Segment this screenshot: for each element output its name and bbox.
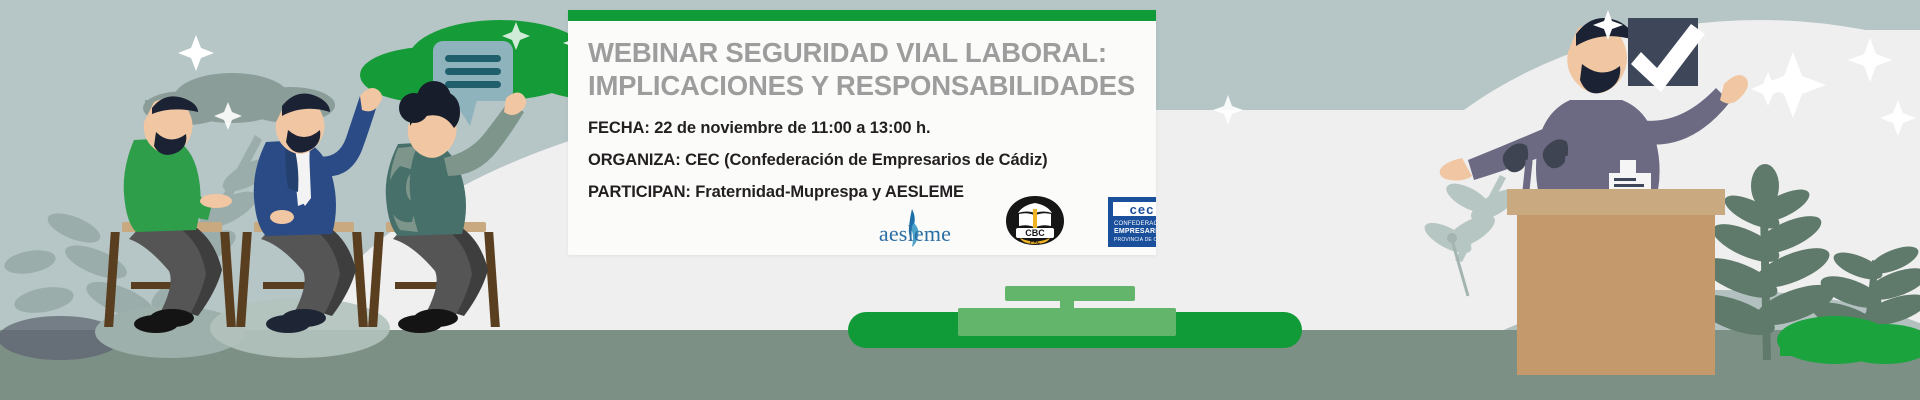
- cbc-sub-wordmark: PRL: [1066, 195, 1067, 196]
- card-body: WEBINAR SEGURIDAD VIAL LABORAL: IMPLICAC…: [568, 21, 1156, 208]
- svg-text:PROVINCIA DE CÁDIZ: PROVINCIA DE CÁDIZ: [1114, 236, 1156, 243]
- cbc-wordmark: CBC: [1066, 195, 1067, 196]
- svg-text:PRL: PRL: [1030, 240, 1040, 246]
- detail-organiza: ORGANIZA: CEC (Confederación de Empresar…: [588, 145, 1136, 177]
- aesleme-wordmark: aesleme: [868, 223, 962, 245]
- logo-cec: cec CONFEDERACIÓN EMPRESARIOS PROVINCIA …: [1108, 197, 1156, 247]
- webinar-banner: WEBINAR SEGURIDAD VIAL LABORAL: IMPLICAC…: [0, 0, 1920, 400]
- svg-text:cec: cec: [1130, 202, 1155, 217]
- svg-text:CONFEDERACIÓN: CONFEDERACIÓN: [1114, 220, 1156, 227]
- detail-fecha: FECHA: 22 de noviembre de 11:00 a 13:00 …: [588, 113, 1136, 145]
- card-top-accent-bar: [568, 10, 1156, 21]
- svg-text:EMPRESARIOS: EMPRESARIOS: [1114, 228, 1156, 235]
- checkmark-box-icon: [1628, 18, 1705, 92]
- detail-fecha-value: 22 de noviembre de 11:00 a 13:00 h.: [650, 119, 931, 137]
- podium: [1507, 189, 1725, 375]
- detail-organiza-label: ORGANIZA:: [588, 151, 681, 169]
- cec-mark-icon: cec CONFEDERACIÓN EMPRESARIOS PROVINCIA …: [1108, 197, 1156, 247]
- detail-fecha-label: FECHA:: [588, 119, 650, 137]
- cbc-prl-mark-icon: CBC PRL: [1004, 195, 1066, 247]
- detail-participan-label: PARTICIPAN:: [588, 183, 691, 201]
- sponsor-logos: aesleme CBC PRL CBC PRL: [868, 195, 1156, 247]
- logo-cbc-prl: CBC PRL CBC PRL: [1004, 195, 1066, 247]
- webinar-title: WEBINAR SEGURIDAD VIAL LABORAL: IMPLICAC…: [588, 37, 1136, 102]
- logo-aesleme: aesleme: [868, 207, 962, 247]
- detail-organiza-value: CEC (Confederación de Empresarios de Cád…: [681, 151, 1048, 169]
- announcement-card: WEBINAR SEGURIDAD VIAL LABORAL: IMPLICAC…: [568, 10, 1156, 255]
- svg-text:CBC: CBC: [1025, 228, 1045, 238]
